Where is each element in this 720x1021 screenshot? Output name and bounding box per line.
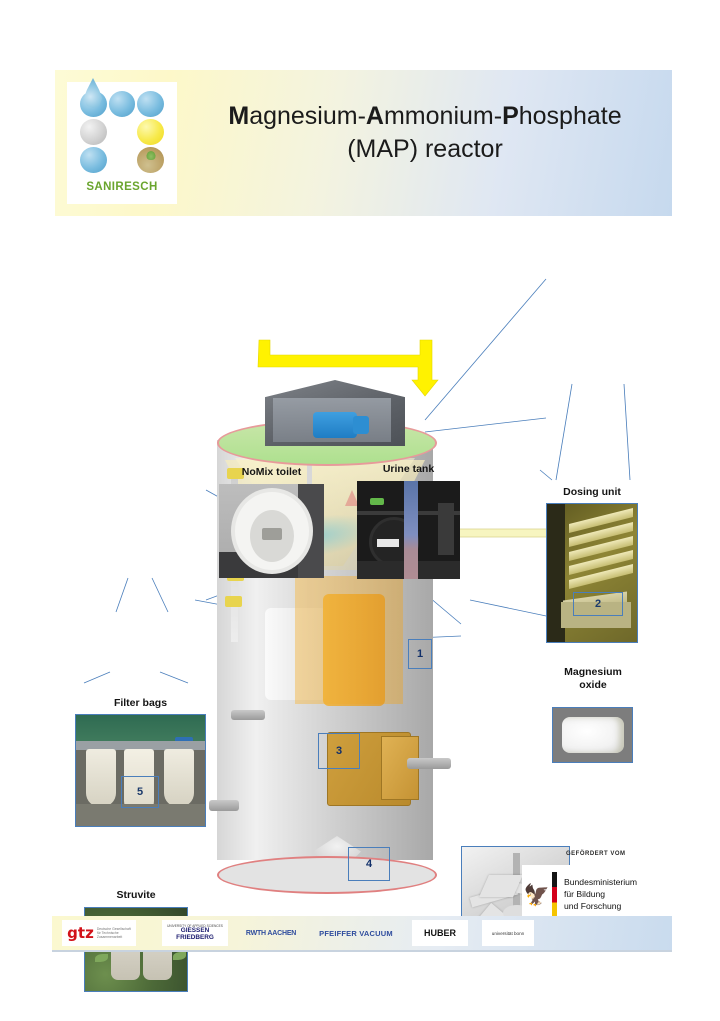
drive-motor-shaft <box>353 416 369 434</box>
partner-logo-gtz: gtz Deutsche Gesellschaft für Technische… <box>62 920 136 946</box>
valve-low <box>225 596 242 607</box>
bmbf-line-2: für Bildung <box>564 889 637 901</box>
precipitation-chamber <box>323 594 385 706</box>
partner-logo-bar: gtz Deutsche Gesellschaft für Technische… <box>52 916 672 950</box>
funded-by-label: GEFÖRDERT VOM <box>566 851 626 857</box>
label-dosing-unit: Dosing unit <box>541 486 643 499</box>
map-reactor-diagram: 1 3 4 NoMix toilet Urine tank Dosing uni… <box>0 225 720 885</box>
bmbf-line-1: Bundesministerium <box>564 877 637 889</box>
huber-name: HUBER <box>424 928 456 938</box>
label-magnesium-oxide: Magnesium oxide <box>548 666 638 692</box>
partner-logo-huber: HUBER <box>412 920 468 946</box>
partner-logo-bonn: universität bonn <box>482 920 534 946</box>
callout-box-5[interactable]: 5 <box>121 776 159 808</box>
label-urine-tank: Urine tank <box>357 463 460 476</box>
bottom-pipe-left <box>209 800 239 811</box>
federal-eagle-icon: 🦅 <box>522 885 552 906</box>
label-nomix-toilet: NoMix toilet <box>219 466 324 479</box>
partner-logo-rwth: RWTH AACHEN <box>238 920 304 946</box>
footer-divider <box>52 950 672 952</box>
photo-filter-bags: 5 <box>75 714 206 827</box>
photo-nomix-toilet <box>219 484 324 578</box>
callout-box-2[interactable]: 2 <box>573 592 623 616</box>
outlet-pipe <box>407 758 451 769</box>
photo-urine-tank <box>357 481 460 579</box>
partner-logo-pfeiffer: PFEIFFER VACUUM <box>312 920 400 946</box>
callout-box-3[interactable]: 3 <box>318 733 360 769</box>
bmbf-line-3: und Forschung <box>564 901 637 913</box>
label-filter-bags: Filter bags <box>75 697 206 710</box>
photo-magnesium-oxide <box>552 707 633 763</box>
callout-box-1[interactable]: 1 <box>408 639 432 669</box>
partner-logo-giessen: UNIVERSITY OF APPLIED SCIENCES GIESSEN F… <box>162 920 228 946</box>
bmbf-text: Bundesministerium für Bildung und Forsch… <box>564 877 637 912</box>
poster-page: SANIRESCH Magnesium-Ammonium-Phosphate (… <box>0 0 720 1021</box>
label-struvite: Struvite <box>84 889 188 902</box>
drive-motor <box>313 412 357 438</box>
pfeiffer-name: PFEIFFER VACUUM <box>319 929 393 938</box>
bonn-name: universität bonn <box>492 931 524 936</box>
giessen-sub: FRIEDBERG <box>176 935 214 942</box>
side-pipe-left <box>231 710 265 720</box>
gtz-subtext: Deutsche Gesellschaft für Technische Zus… <box>97 927 131 939</box>
reactor-3d-model <box>195 380 455 880</box>
gtz-wordmark: gtz <box>67 924 94 942</box>
reactor-base <box>217 856 437 894</box>
callout-box-4[interactable]: 4 <box>348 847 390 881</box>
rwth-name: RWTH AACHEN <box>246 930 296 937</box>
photo-dosing-unit: 2 <box>546 503 638 643</box>
german-flag-bar <box>552 872 557 918</box>
